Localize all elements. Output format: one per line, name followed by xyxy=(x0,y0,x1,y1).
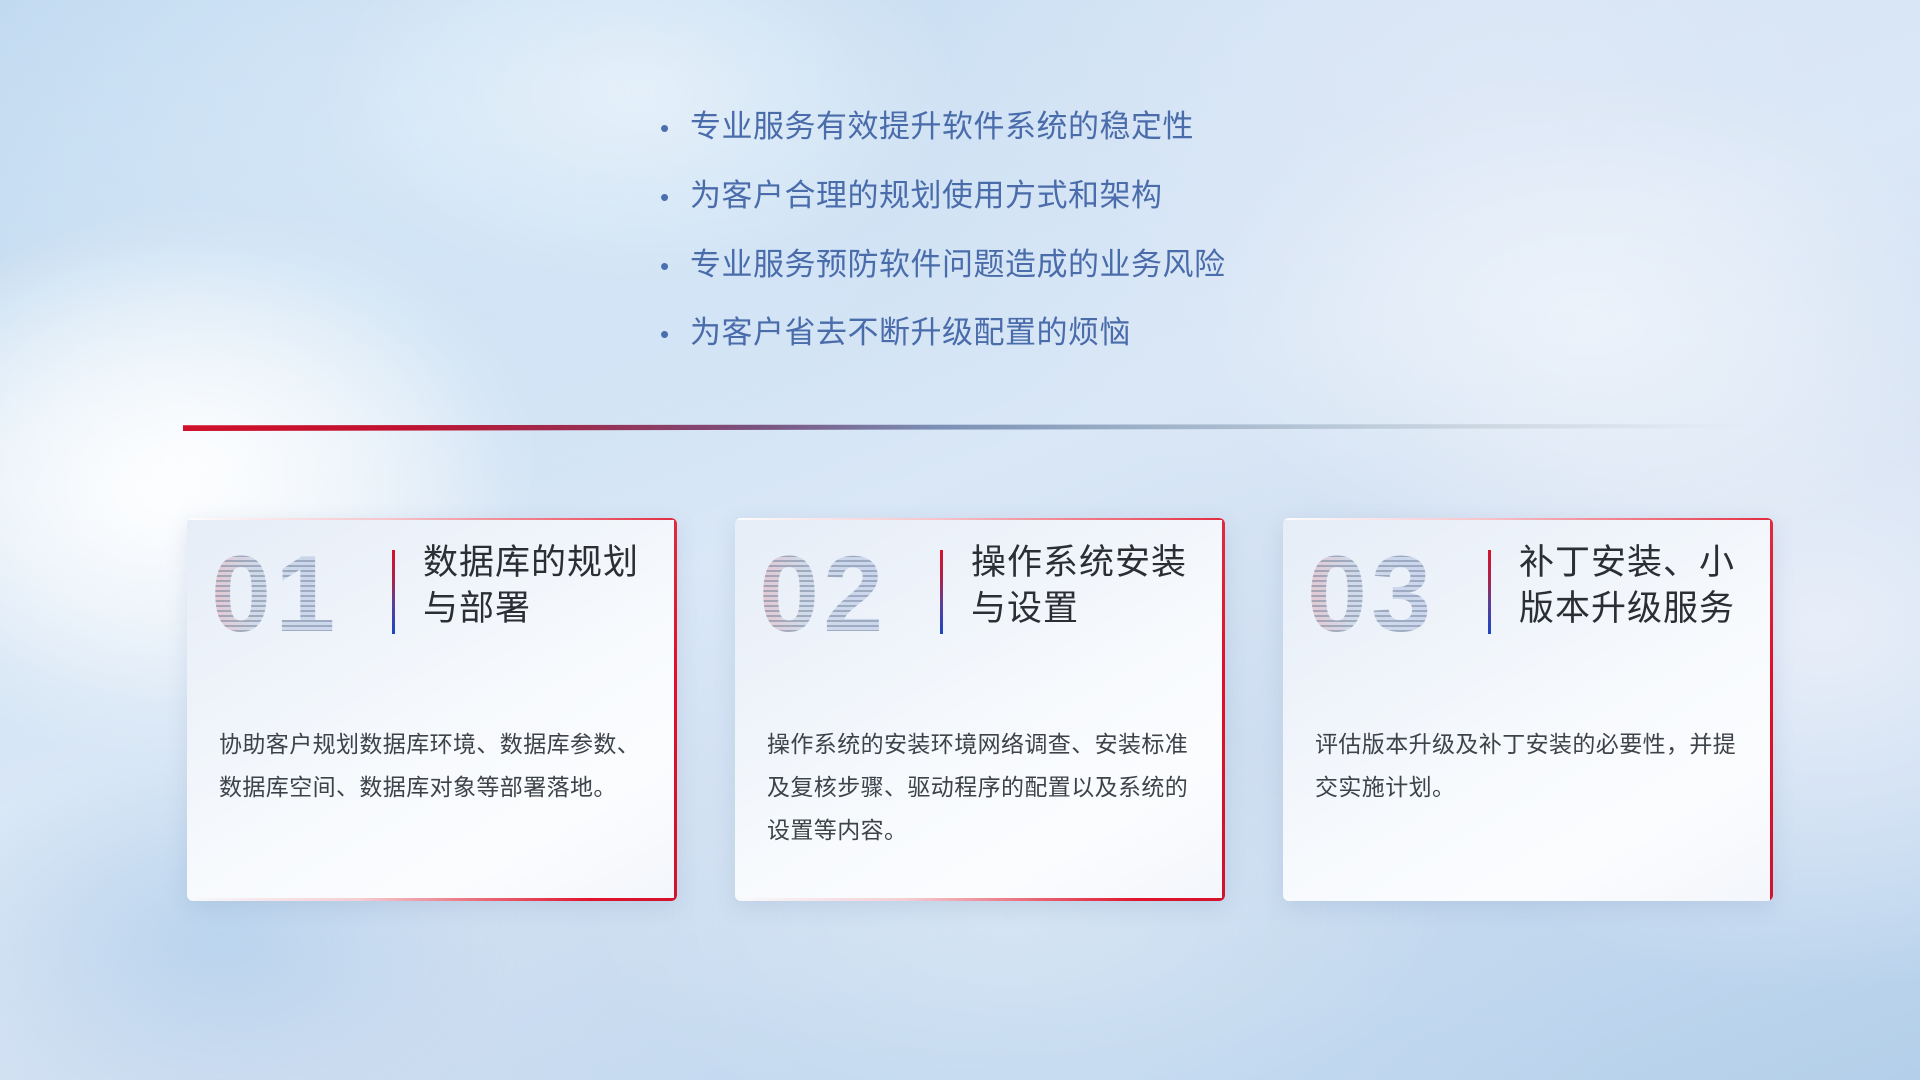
card-body-text: 评估版本升级及补丁安装的必要性，并提交实施计划。 xyxy=(1315,723,1747,809)
card-title: 操作系统安装与设置 xyxy=(971,540,1211,632)
section-divider xyxy=(183,424,1753,431)
card-title-rule xyxy=(940,550,943,634)
service-card-03[interactable]: 03 补丁安装、小版本升级服务 评估版本升级及补丁安装的必要性，并提交实施计划。 xyxy=(1283,518,1773,901)
card-title: 数据库的规划与部署 xyxy=(423,540,663,632)
benefits-bullet-list: • 专业服务有效提升软件系统的稳定性 • 为客户合理的规划使用方式和架构 • 专… xyxy=(660,108,1420,383)
bullet-text-4: 为客户省去不断升级配置的烦恼 xyxy=(690,314,1131,353)
bullet-text-2: 为客户合理的规划使用方式和架构 xyxy=(690,177,1163,216)
card-header: 02 操作系统安装与设置 xyxy=(735,518,1225,708)
slide-canvas: • 专业服务有效提升软件系统的稳定性 • 为客户合理的规划使用方式和架构 • 专… xyxy=(0,0,1920,1080)
card-title-rule xyxy=(392,550,395,634)
card-number-ghost: 03 xyxy=(1307,540,1435,648)
card-header: 03 补丁安装、小版本升级服务 xyxy=(1283,518,1773,708)
bullet-dot-icon: • xyxy=(660,321,690,347)
bullet-text-1: 专业服务有效提升软件系统的稳定性 xyxy=(690,108,1194,147)
card-title-rule xyxy=(1488,550,1491,634)
bullet-dot-icon: • xyxy=(660,115,690,141)
card-bottom-accent xyxy=(1283,898,1773,901)
list-item: • 专业服务预防软件问题造成的业务风险 xyxy=(660,246,1420,285)
divider-line xyxy=(183,424,1753,431)
card-header: 01 数据库的规划与部署 xyxy=(187,518,677,708)
bullet-text-3: 专业服务预防软件问题造成的业务风险 xyxy=(690,246,1226,285)
card-body-text: 操作系统的安装环境网络调查、安装标准及复核步骤、驱动程序的配置以及系统的设置等内… xyxy=(767,723,1199,851)
service-card-02[interactable]: 02 操作系统安装与设置 操作系统的安装环境网络调查、安装标准及复核步骤、驱动程… xyxy=(735,518,1225,901)
card-number-ghost: 01 xyxy=(211,540,339,648)
card-body-text: 协助客户规划数据库环境、数据库参数、数据库空间、数据库对象等部署落地。 xyxy=(219,723,651,809)
bullet-dot-icon: • xyxy=(660,253,690,279)
card-bottom-accent xyxy=(735,898,1225,901)
card-number-ghost: 02 xyxy=(759,540,887,648)
bullet-dot-icon: • xyxy=(660,184,690,210)
card-title: 补丁安装、小版本升级服务 xyxy=(1519,540,1759,632)
card-bottom-accent xyxy=(187,898,677,901)
list-item: • 专业服务有效提升软件系统的稳定性 xyxy=(660,108,1420,147)
service-card-01[interactable]: 01 数据库的规划与部署 协助客户规划数据库环境、数据库参数、数据库空间、数据库… xyxy=(187,518,677,901)
list-item: • 为客户合理的规划使用方式和架构 xyxy=(660,177,1420,216)
list-item: • 为客户省去不断升级配置的烦恼 xyxy=(660,314,1420,353)
